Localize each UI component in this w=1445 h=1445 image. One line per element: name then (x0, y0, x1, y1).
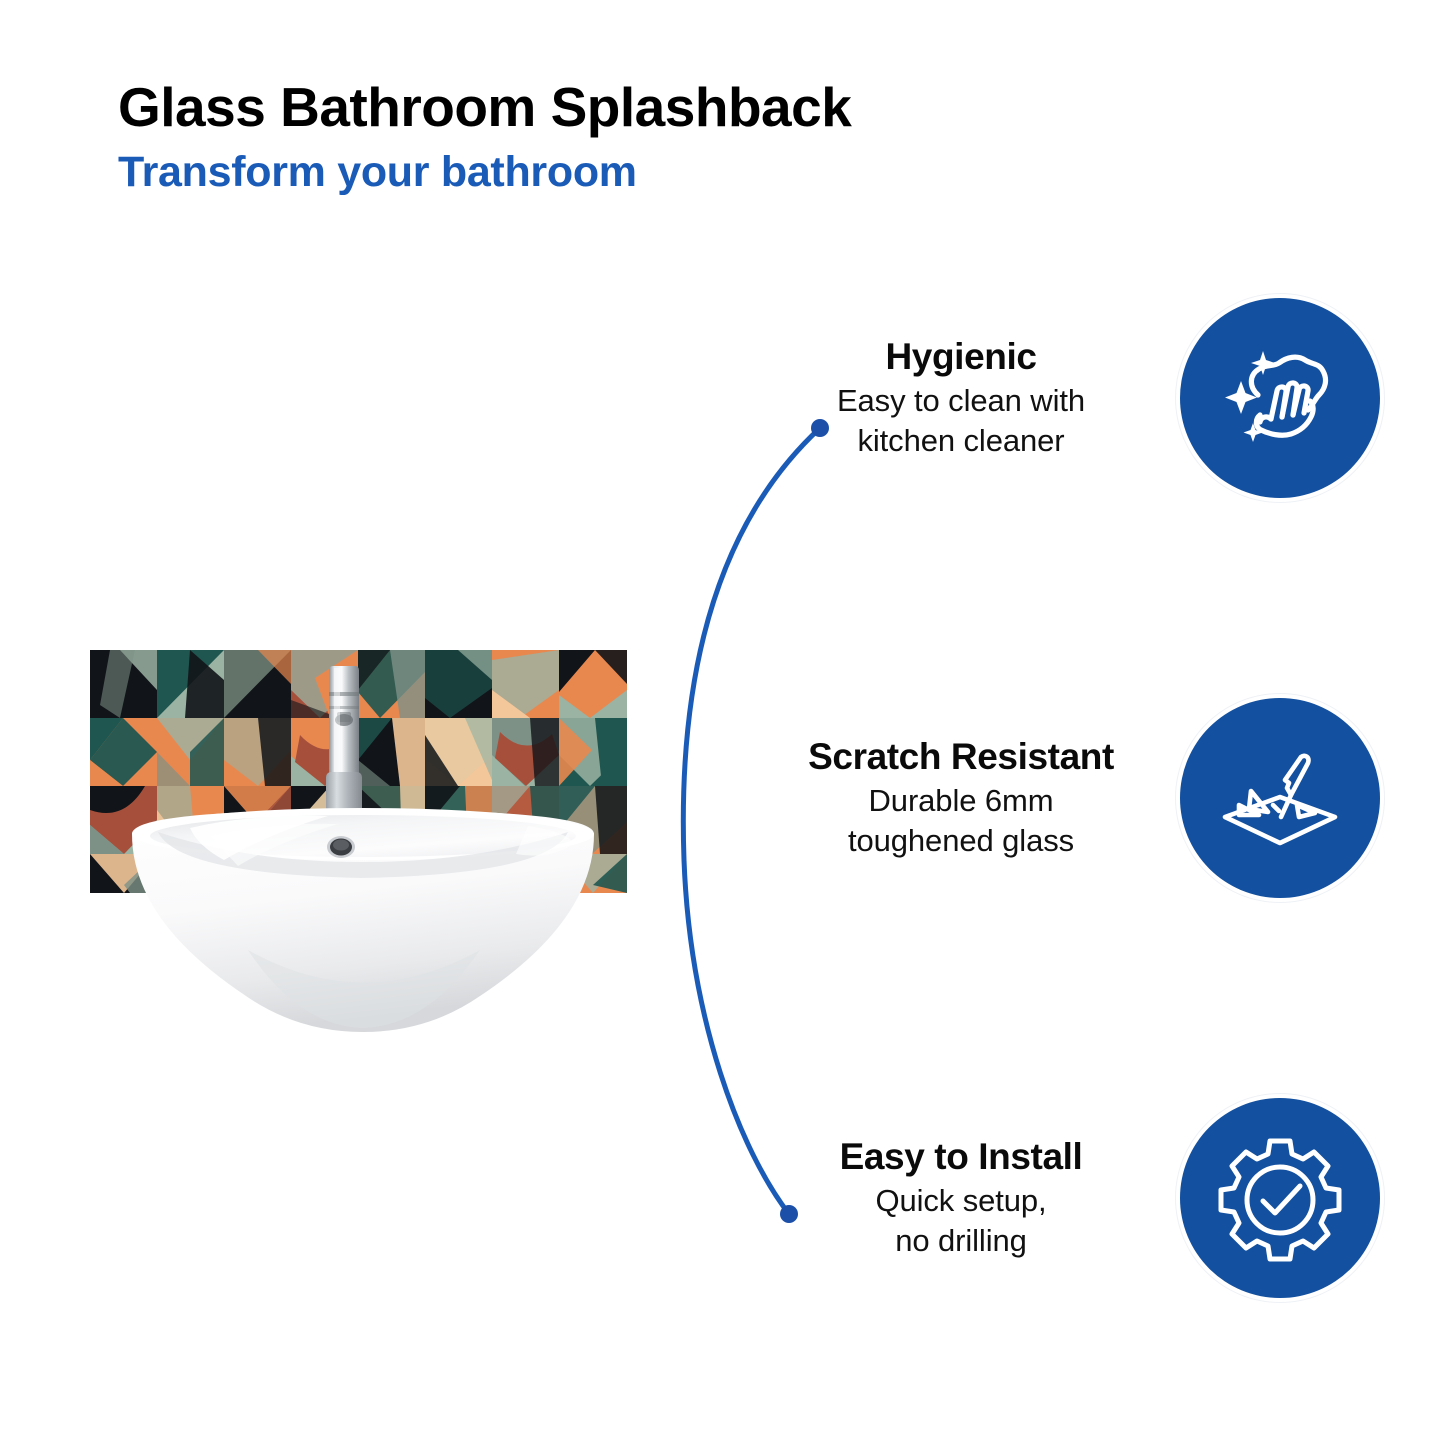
feature-hygienic-title: Hygienic (760, 336, 1162, 377)
feature-hygienic-text: Hygienic Easy to clean with kitchen clea… (760, 336, 1180, 461)
feature-easy-to-install-title: Easy to Install (760, 1136, 1162, 1177)
feature-easy-to-install: Easy to Install Quick setup, no drilling (760, 1093, 1380, 1303)
feature-hygienic-badge (1180, 298, 1380, 498)
faucet-icon (316, 662, 372, 822)
hand-wiping-cloth-sparkle-icon (1215, 333, 1345, 463)
feature-easy-to-install-text: Easy to Install Quick setup, no drilling (760, 1136, 1180, 1261)
feature-easy-to-install-badge (1180, 1098, 1380, 1298)
feature-scratch-resistant-title: Scratch Resistant (760, 736, 1162, 777)
knife-scratching-surface-icon (1215, 733, 1345, 863)
feature-scratch-resistant-text: Scratch Resistant Durable 6mm toughened … (760, 736, 1180, 861)
feature-hygienic-desc-line1: Easy to clean with (760, 381, 1162, 421)
page-title: Glass Bathroom Splashback (118, 78, 1118, 136)
infographic-canvas: Glass Bathroom Splashback Transform your… (0, 0, 1445, 1445)
sink-basin (128, 800, 598, 1050)
feature-scratch-resistant-desc-line1: Durable 6mm (760, 781, 1162, 821)
feature-hygienic-desc-line2: kitchen cleaner (760, 421, 1162, 461)
feature-easy-to-install-desc-line2: no drilling (760, 1221, 1162, 1261)
feature-scratch-resistant-desc-line2: toughened glass (760, 821, 1162, 861)
feature-scratch-resistant-badge (1180, 698, 1380, 898)
feature-hygienic: Hygienic Easy to clean with kitchen clea… (760, 293, 1380, 503)
page-subtitle: Transform your bathroom (118, 149, 1118, 195)
header: Glass Bathroom Splashback Transform your… (118, 78, 1118, 196)
feature-scratch-resistant: Scratch Resistant Durable 6mm toughened … (760, 693, 1380, 903)
product-image (88, 640, 628, 1060)
feature-easy-to-install-desc-line1: Quick setup, (760, 1181, 1162, 1221)
gear-check-icon (1215, 1133, 1345, 1263)
